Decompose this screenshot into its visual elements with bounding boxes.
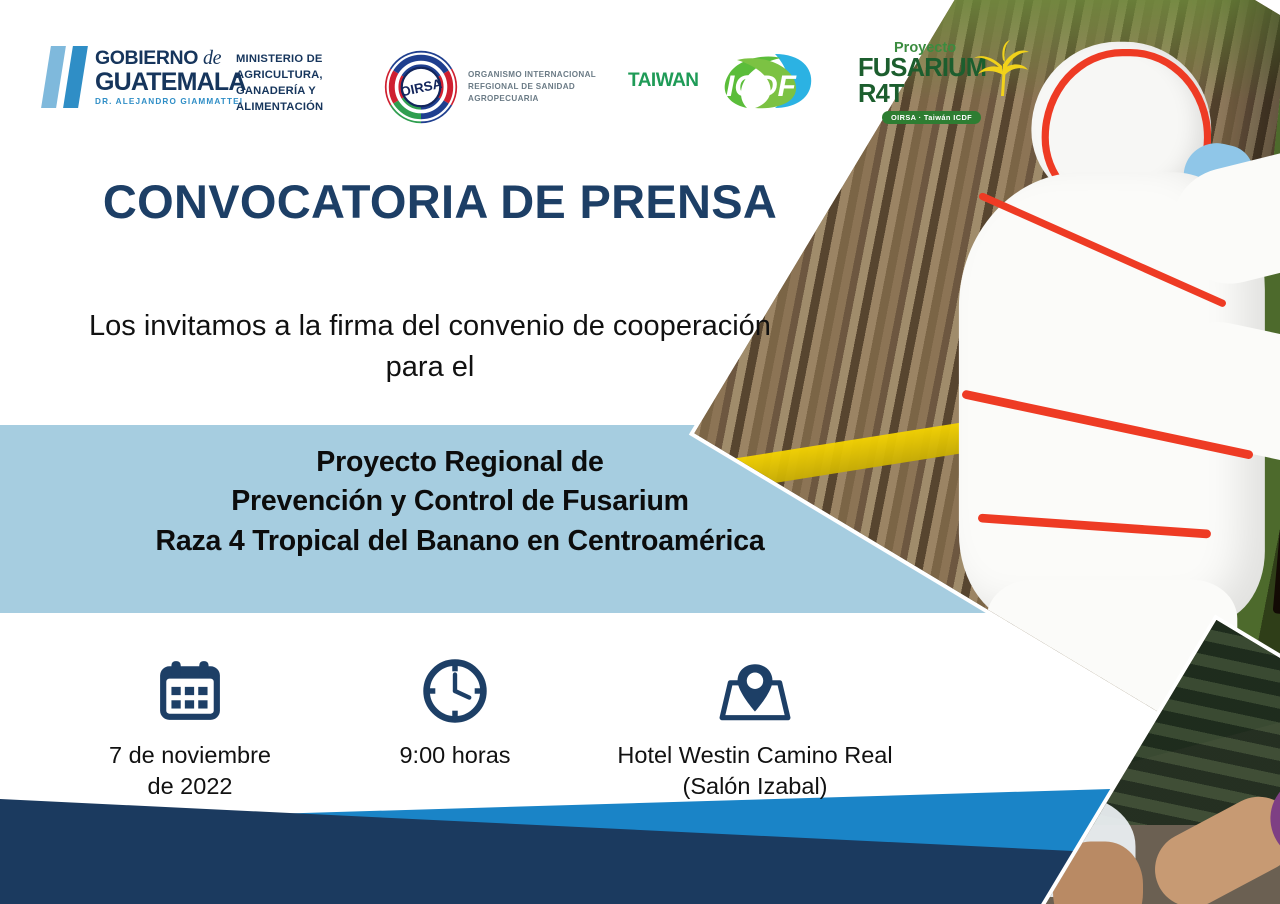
event-time-line-1: 9:00 horas [340, 740, 570, 771]
page-title: CONVOCATORIA DE PRENSA [60, 174, 820, 229]
clock-icon [340, 648, 570, 734]
logo-oirsa: OIRSA ORGANISMO INTERNACIONAL REFGIONAL … [384, 50, 603, 124]
guatemala-label: GUATEMALA [95, 70, 246, 95]
gobierno-label: GOBIERNO [95, 47, 198, 69]
svg-text:ICDF: ICDF [726, 70, 797, 103]
logo-proyecto-fusarium-r4t: Proyecto FUSARIUM R4T OIRSA · Taiwán ICD… [858, 40, 1038, 122]
event-place-line-1: Hotel Westin Camino Real [570, 740, 940, 771]
press-invitation-poster: GOBIERNO de GUATEMALA DR. ALEJANDRO GIAM… [0, 0, 1280, 904]
gobierno-de-label: de [203, 47, 221, 69]
project-line-2: Prevención y Control de Fusarium [0, 482, 920, 521]
event-date-line-2: de 2022 [40, 771, 340, 802]
logo-row: GOBIERNO de GUATEMALA DR. ALEJANDRO GIAM… [0, 0, 1060, 140]
icdf-swoosh-icon: ICDF [703, 52, 815, 110]
oirsa-emblem-icon: OIRSA [384, 50, 458, 124]
taiwan-label: TAIWAN [628, 70, 699, 92]
event-time-block: 9:00 horas [340, 648, 570, 818]
event-date-line-1: 7 de noviembre [40, 740, 340, 771]
map-pin-icon [570, 648, 940, 734]
logo-taiwan-icdf: TAIWAN ICDF [628, 52, 815, 110]
logo-ministerio-agricultura: MINISTERIO DE AGRICULTURA, GANADERÍA Y A… [236, 52, 346, 116]
project-line-1: Proyecto Regional de [0, 443, 920, 482]
president-label: DR. ALEJANDRO GIAMMATTEI [95, 98, 246, 106]
event-date-block: 7 de noviembre de 2022 [40, 648, 340, 818]
event-place-block: Hotel Westin Camino Real (Salón Izabal) [570, 648, 940, 818]
oirsa-description: ORGANISMO INTERNACIONAL REFGIONAL DE SAN… [468, 69, 603, 106]
banana-plant-icon [970, 38, 1032, 100]
invitation-text: Los invitamos a la firma del convenio de… [60, 306, 800, 387]
calendar-icon [40, 648, 340, 734]
event-place-line-2: (Salón Izabal) [570, 771, 940, 802]
logo-gobierno-de-guatemala: GOBIERNO de GUATEMALA DR. ALEJANDRO GIAM… [46, 46, 246, 108]
project-line-3: Raza 4 Tropical del Banano en Centroamér… [0, 522, 920, 561]
fusarium-partners-badge: OIRSA · Taiwán ICDF [882, 111, 981, 124]
project-name: Proyecto Regional de Prevención y Contro… [0, 443, 920, 561]
event-details: 7 de noviembre de 2022 [40, 648, 940, 818]
guatemala-flag-bars-icon [46, 46, 83, 108]
